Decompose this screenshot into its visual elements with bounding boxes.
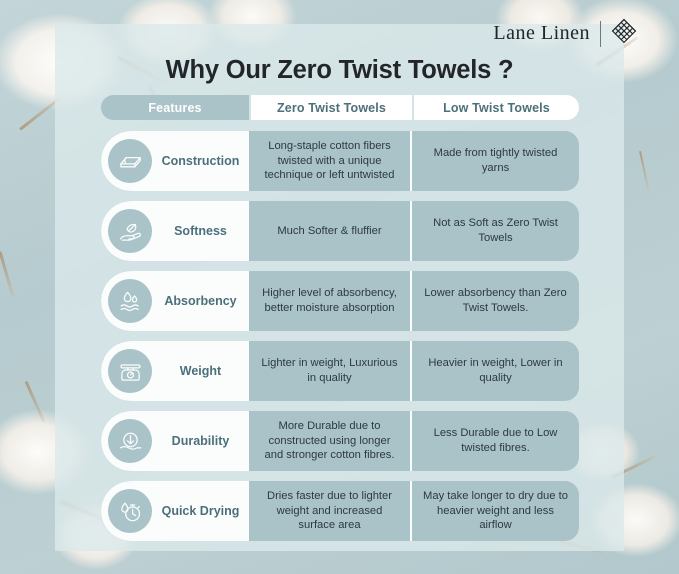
feature-label: Absorbency [152,294,249,308]
twig-decoration [639,151,649,191]
brand-logo: Lane Linen [493,18,637,49]
table-row: Durability More Durable due to construct… [101,411,579,471]
twig-decoration [25,381,46,422]
zero-twist-cell: Much Softer & fluffier [249,201,412,261]
feature-label: Softness [152,224,249,238]
stopwatch-droplet-icon [108,489,152,533]
zero-twist-cell: Dries faster due to lighter weight and i… [249,481,412,541]
table-header-row: Features Zero Twist Towels Low Twist Tow… [101,95,579,120]
twig-decoration [0,251,15,298]
zero-twist-cell: Higher level of absorbency, better moist… [249,271,412,331]
low-twist-cell: Made from tightly twisted yarns [412,131,579,191]
column-header-zero-twist: Zero Twist Towels [251,95,412,120]
column-header-low-twist: Low Twist Towels [414,95,579,120]
woven-diamond-logo-icon [611,18,637,49]
zero-twist-cell: More Durable due to constructed using lo… [249,411,412,471]
low-twist-cell: Heavier in weight, Lower in quality [412,341,579,401]
hand-feather-icon [108,209,152,253]
down-arrow-circle-icon [108,419,152,463]
low-twist-cell: Not as Soft as Zero Twist Towels [412,201,579,261]
feature-label: Construction [152,154,249,168]
brand-name: Lane Linen [493,22,590,45]
table-row: Construction Long-staple cotton fibers t… [101,131,579,191]
feature-label: Weight [152,364,249,378]
feature-cell: Weight [101,341,249,401]
page-title: Why Our Zero Twist Towels ? [0,56,679,85]
zero-twist-cell: Lighter in weight, Luxurious in quality [249,341,412,401]
feature-cell: Softness [101,201,249,261]
feature-cell: Absorbency [101,271,249,331]
low-twist-cell: May take longer to dry due to heavier we… [412,481,579,541]
table-row: Weight Lighter in weight, Luxurious in q… [101,341,579,401]
feature-label: Quick Drying [152,504,249,518]
feature-label: Durability [152,434,249,448]
comparison-table: Features Zero Twist Towels Low Twist Tow… [101,95,579,551]
low-twist-cell: Less Durable due to Low twisted fibres. [412,411,579,471]
column-header-features: Features [101,95,249,120]
brand-separator [600,21,601,47]
kitchen-scale-icon [108,349,152,393]
feature-cell: Durability [101,411,249,471]
low-twist-cell: Lower absorbency than Zero Twist Towels. [412,271,579,331]
water-droplet-absorb-icon [108,279,152,323]
zero-twist-cell: Long-staple cotton fibers twisted with a… [249,131,412,191]
feature-cell: Construction [101,131,249,191]
table-row: Quick Drying Dries faster due to lighter… [101,481,579,541]
folded-towel-icon [108,139,152,183]
feature-cell: Quick Drying [101,481,249,541]
table-row: Absorbency Higher level of absorbency, b… [101,271,579,331]
table-row: Softness Much Softer & fluffier Not as S… [101,201,579,261]
